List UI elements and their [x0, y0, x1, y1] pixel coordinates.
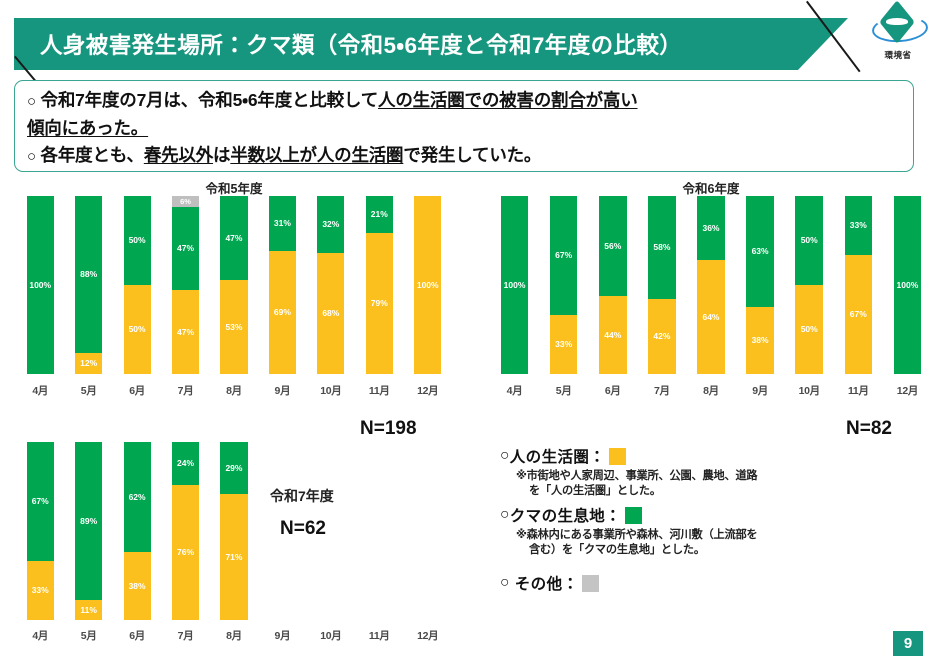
bar-segment-label: 33%	[32, 586, 49, 595]
bar-segment-label: 12%	[80, 359, 97, 368]
bar-segment-label: 71%	[225, 553, 242, 562]
bar-segment: 6%	[172, 196, 199, 207]
bar-segment-label: 31%	[274, 219, 291, 228]
chart-reiwa7: 67%33%89%11%62%38%24%76%29%71% 4月5月6月7月8…	[8, 438, 460, 648]
bar-stack: 21%79%	[366, 196, 393, 374]
bar-segment: 56%	[599, 196, 627, 296]
bar-column: 67%33%	[16, 442, 64, 620]
bar-column: 29%71%	[210, 442, 258, 620]
bar-stack: 67%33%	[550, 196, 578, 374]
bar-segment-label: 63%	[752, 247, 769, 256]
slide-header-band: 人身被害発生場所：クマ類（令和5・6年度と令和7年度の比較）	[14, 18, 848, 70]
bar-segment-label: 50%	[129, 325, 146, 334]
callout-bullet-1: ○	[27, 93, 36, 110]
x-axis-tick-label: 11月	[355, 383, 403, 398]
bar-stack: 67%33%	[27, 442, 54, 620]
legend-swatch-other	[582, 575, 599, 592]
chart-reiwa6-plot: 100%67%33%56%44%58%42%36%64%63%38%50%50%…	[490, 196, 932, 374]
callout-line-1-underlined: 人の生活圏での被害の割合が高い	[378, 90, 638, 110]
bar-segment-label: 36%	[702, 224, 719, 233]
bar-segment-label: 69%	[274, 308, 291, 317]
bar-column: 6%47%47%	[161, 196, 209, 374]
bar-stack: 6%47%47%	[172, 196, 199, 374]
bar-segment: 11%	[75, 600, 102, 620]
x-axis-tick-label: 4月	[490, 383, 539, 398]
bar-segment-label: 50%	[801, 236, 818, 245]
bar-stack: 100%	[414, 196, 441, 374]
bar-segment: 21%	[366, 196, 393, 233]
legend-item-habitat: ○ クマの生息地： ※森林内にある事業所や森林、河川敷（上流部を 含む）を「クマ…	[500, 504, 930, 557]
x-axis-tick-label: 7月	[161, 383, 209, 398]
bar-segment: 38%	[746, 307, 774, 374]
chart-reiwa7-title: 令和7年度	[270, 486, 334, 506]
bar-segment-label: 38%	[129, 582, 146, 591]
bar-segment-label: 62%	[129, 493, 146, 502]
legend-note-human-line2: を「人の生活圏」とした。	[516, 484, 930, 499]
x-axis-tick-label: 9月	[258, 628, 306, 643]
bar-segment-label: 100%	[417, 281, 439, 290]
legend-swatch-human	[609, 448, 626, 465]
bar-segment-label: 56%	[604, 242, 621, 251]
chart-reiwa7-x-axis: 4月5月6月7月8月9月10月11月12月	[16, 628, 452, 643]
legend-item-other: ○ その他：	[500, 572, 930, 594]
bar-segment-label: 33%	[850, 221, 867, 230]
bar-stack: 100%	[27, 196, 54, 374]
bar-segment-label: 89%	[80, 517, 97, 526]
legend-item-human-head: ○ 人の生活圏：	[500, 445, 930, 467]
bar-segment-label: 50%	[801, 325, 818, 334]
chart-reiwa5: 令和5年度 100%88%12%50%50%6%47%47%47%53%31%6…	[8, 178, 460, 410]
bar-segment-label: 88%	[80, 270, 97, 279]
bar-segment: 100%	[501, 196, 529, 374]
callout-line-3-plain-c: で発生していた。	[403, 145, 541, 165]
bar-segment-label: 76%	[177, 548, 194, 557]
bar-segment: 53%	[220, 280, 247, 374]
x-axis-tick-label: 10月	[785, 383, 834, 398]
bar-column: 31%69%	[258, 196, 306, 374]
bar-segment: 79%	[366, 233, 393, 374]
bar-segment-label: 33%	[555, 340, 572, 349]
chart-reiwa7-plot: 67%33%89%11%62%38%24%76%29%71%	[16, 442, 452, 620]
bar-segment-label: 11%	[80, 606, 97, 615]
bar-segment-label: 100%	[29, 281, 51, 290]
legend: ○ 人の生活圏： ※市街地や人家周辺、事業所、公園、農地、道路 を「人の生活圏」…	[500, 445, 930, 594]
bar-segment: 32%	[317, 196, 344, 253]
x-axis-tick-label: 11月	[355, 628, 403, 643]
chart-reiwa7-n-label: N=62	[280, 518, 326, 540]
bar-segment: 100%	[414, 196, 441, 374]
x-axis-tick-label: 12月	[883, 383, 932, 398]
x-axis-tick-label: 8月	[210, 383, 258, 398]
bar-stack: 63%38%	[746, 196, 774, 374]
bar-column: 58%42%	[637, 196, 686, 374]
callout-line-3-underlined-b: 半数以上が人の生活圏	[230, 145, 403, 165]
bar-column: 50%50%	[785, 196, 834, 374]
x-axis-tick-label: 8月	[686, 383, 735, 398]
chart-reiwa6-x-axis: 4月5月6月7月8月9月10月11月12月	[490, 383, 932, 398]
x-axis-tick-label: 10月	[307, 383, 355, 398]
legend-item-habitat-head: ○ クマの生息地：	[500, 504, 930, 526]
bar-segment-label: 100%	[897, 281, 919, 290]
bar-segment: 58%	[648, 196, 676, 299]
bar-segment-label: 47%	[177, 328, 194, 337]
bar-segment: 47%	[220, 196, 247, 280]
logo-wave-icon	[886, 18, 908, 25]
x-axis-tick-label: 9月	[258, 383, 306, 398]
bar-segment: 50%	[795, 285, 823, 374]
legend-note-habitat-line2: 含む）を「クマの生息地」とした。	[516, 543, 930, 558]
bar-segment-label: 32%	[322, 220, 339, 229]
bar-segment-label: 68%	[322, 309, 339, 318]
bar-stack: 29%71%	[220, 442, 247, 620]
bar-stack: 24%76%	[172, 442, 199, 620]
chart-reiwa5-x-axis: 4月5月6月7月8月9月10月11月12月	[16, 383, 452, 398]
bar-stack: 100%	[501, 196, 529, 374]
x-axis-tick-label: 11月	[834, 383, 883, 398]
page-title: 人身被害発生場所：クマ類（令和5・6年度と令和7年度の比較）	[40, 28, 682, 60]
callout-line-3-underlined-a: 春先以外	[144, 145, 213, 165]
bar-column: 50%50%	[113, 196, 161, 374]
legend-bullet-human: ○	[500, 447, 510, 465]
bar-segment: 67%	[550, 196, 578, 315]
x-axis-tick-label: 6月	[588, 383, 637, 398]
callout-line-2: 傾向にあった。	[27, 115, 903, 142]
bar-segment: 69%	[269, 251, 296, 374]
x-axis-tick-label: 6月	[113, 383, 161, 398]
x-axis-tick-label: 10月	[307, 628, 355, 643]
bar-segment-label: 67%	[850, 310, 867, 319]
x-axis-tick-label: 7月	[637, 383, 686, 398]
bar-column: 100%	[883, 196, 932, 374]
ministry-logo-label: 環境省	[856, 49, 940, 61]
bar-segment: 63%	[746, 196, 774, 307]
bar-segment: 100%	[894, 196, 922, 374]
bar-stack: 56%44%	[599, 196, 627, 374]
callout-bullet-2: ○	[27, 148, 36, 165]
bar-segment: 50%	[124, 285, 151, 374]
bar-segment: 89%	[75, 442, 102, 600]
ministry-logo: 環境省	[856, 6, 940, 70]
bar-segment-label: 29%	[225, 464, 242, 473]
bar-segment-label: 100%	[504, 281, 526, 290]
bar-column: 33%67%	[834, 196, 883, 374]
summary-callout-box: ○ 令和7年度の7月は、令和5・6年度と比較して人の生活圏での被害の割合が高い …	[14, 80, 914, 172]
bar-segment-label: 67%	[555, 251, 572, 260]
bar-segment: 36%	[697, 196, 725, 260]
bar-segment-label: 64%	[702, 313, 719, 322]
legend-note-human-line1: ※市街地や人家周辺、事業所、公園、農地、道路	[516, 470, 757, 482]
bar-stack: 50%50%	[795, 196, 823, 374]
legend-label-other: その他：	[515, 572, 579, 594]
page-number-badge: 9	[893, 631, 923, 656]
bar-column: 36%64%	[686, 196, 735, 374]
bar-stack: 33%67%	[845, 196, 873, 374]
bar-column: 100%	[490, 196, 539, 374]
x-axis-tick-label: 8月	[210, 628, 258, 643]
bar-stack: 88%12%	[75, 196, 102, 374]
bar-stack: 36%64%	[697, 196, 725, 374]
callout-line-3: ○ 各年度とも、春先以外は半数以上が人の生活圏で発生していた。	[27, 142, 903, 170]
bar-segment: 67%	[27, 442, 54, 561]
bar-segment-label: 58%	[653, 243, 670, 252]
x-axis-tick-label: 4月	[16, 628, 64, 643]
bar-column: 62%38%	[113, 442, 161, 620]
bar-segment-label: 24%	[177, 459, 194, 468]
bar-segment-label: 21%	[371, 210, 388, 219]
bar-stack: 31%69%	[269, 196, 296, 374]
chart-reiwa6: 令和6年度 100%67%33%56%44%58%42%36%64%63%38%…	[482, 178, 940, 410]
bar-segment: 64%	[697, 260, 725, 374]
x-axis-tick-label: 5月	[64, 628, 112, 643]
chart-reiwa5-n-label: N=198	[360, 418, 417, 440]
legend-note-habitat-line1: ※森林内にある事業所や森林、河川敷（上流部を	[516, 529, 757, 541]
bar-column: 100%	[404, 196, 452, 374]
bar-stack	[414, 442, 441, 620]
bar-segment: 24%	[172, 442, 199, 485]
bar-column: 47%53%	[210, 196, 258, 374]
bar-column	[355, 442, 403, 620]
bar-segment: 50%	[795, 196, 823, 285]
bar-column: 21%79%	[355, 196, 403, 374]
callout-line-1: ○ 令和7年度の7月は、令和5・6年度と比較して人の生活圏での被害の割合が高い	[27, 87, 903, 115]
bar-segment-label: 53%	[225, 323, 242, 332]
chart-reiwa5-plot: 100%88%12%50%50%6%47%47%47%53%31%69%32%6…	[16, 196, 452, 374]
bar-segment-label: 47%	[177, 244, 194, 253]
bar-segment-label: 42%	[653, 332, 670, 341]
legend-item-other-head: ○ その他：	[500, 572, 930, 594]
legend-label-human: 人の生活圏：	[510, 445, 605, 467]
bar-segment: 42%	[648, 299, 676, 374]
bar-column: 24%76%	[161, 442, 209, 620]
bar-stack: 58%42%	[648, 196, 676, 374]
bar-segment-label: 38%	[752, 336, 769, 345]
x-axis-tick-label: 9月	[736, 383, 785, 398]
bar-column: 88%12%	[64, 196, 112, 374]
bar-segment: 47%	[172, 290, 199, 374]
bar-segment-label: 79%	[371, 299, 388, 308]
callout-line-3-plain-b: は	[213, 145, 230, 165]
bar-stack: 89%11%	[75, 442, 102, 620]
bar-segment-label: 50%	[129, 236, 146, 245]
bar-stack: 62%38%	[124, 442, 151, 620]
bar-segment: 100%	[27, 196, 54, 374]
x-axis-tick-label: 5月	[539, 383, 588, 398]
bar-column: 56%44%	[588, 196, 637, 374]
x-axis-tick-label: 6月	[113, 628, 161, 643]
x-axis-tick-label: 4月	[16, 383, 64, 398]
bar-segment: 50%	[124, 196, 151, 285]
bar-segment: 62%	[124, 442, 151, 552]
bar-column: 32%68%	[307, 196, 355, 374]
bar-segment: 29%	[220, 442, 247, 494]
bar-column: 63%38%	[736, 196, 785, 374]
bar-segment-label: 47%	[225, 234, 242, 243]
legend-note-human: ※市街地や人家周辺、事業所、公園、農地、道路 を「人の生活圏」とした。	[516, 469, 930, 498]
ministry-logo-mark	[870, 6, 926, 48]
bar-segment: 44%	[599, 296, 627, 374]
bar-column	[404, 442, 452, 620]
x-axis-tick-label: 12月	[404, 383, 452, 398]
bar-stack: 50%50%	[124, 196, 151, 374]
bar-segment: 33%	[550, 315, 578, 374]
legend-spacer	[500, 563, 930, 572]
x-axis-tick-label: 7月	[161, 628, 209, 643]
bar-segment: 38%	[124, 552, 151, 620]
legend-bullet-other: ○	[500, 574, 510, 592]
bar-segment: 71%	[220, 494, 247, 620]
bar-segment: 68%	[317, 253, 344, 374]
bar-stack: 47%53%	[220, 196, 247, 374]
legend-item-human: ○ 人の生活圏： ※市街地や人家周辺、事業所、公園、農地、道路 を「人の生活圏」…	[500, 445, 930, 498]
legend-note-habitat: ※森林内にある事業所や森林、河川敷（上流部を 含む）を「クマの生息地」とした。	[516, 528, 930, 557]
bar-segment: 33%	[845, 196, 873, 255]
bar-column: 89%11%	[64, 442, 112, 620]
chart-reiwa6-title: 令和6年度	[482, 178, 940, 197]
bar-segment: 88%	[75, 196, 102, 353]
bar-segment-label: 67%	[32, 497, 49, 506]
legend-label-habitat: クマの生息地：	[510, 504, 621, 526]
bar-stack: 100%	[894, 196, 922, 374]
bar-column: 100%	[16, 196, 64, 374]
bar-column: 67%33%	[539, 196, 588, 374]
chart-reiwa6-n-label: N=82	[846, 418, 892, 440]
bar-segment: 47%	[172, 207, 199, 291]
callout-line-1-plain: 令和7年度の7月は、令和5・6年度と比較して	[41, 90, 378, 110]
chart-reiwa5-title: 令和5年度	[8, 178, 460, 197]
bar-segment-label: 6%	[180, 198, 191, 206]
bar-stack: 32%68%	[317, 196, 344, 374]
bar-segment: 67%	[845, 255, 873, 374]
legend-bullet-habitat: ○	[500, 506, 510, 524]
bar-segment: 31%	[269, 196, 296, 251]
callout-line-2-underlined: 傾向にあった。	[27, 118, 148, 138]
callout-line-3-plain-a: 各年度とも、	[41, 145, 144, 165]
bar-stack	[366, 442, 393, 620]
x-axis-tick-label: 5月	[64, 383, 112, 398]
bar-segment: 12%	[75, 353, 102, 374]
bar-segment: 33%	[27, 561, 54, 620]
bar-segment-label: 44%	[604, 331, 621, 340]
legend-swatch-habitat	[625, 507, 642, 524]
x-axis-tick-label: 12月	[404, 628, 452, 643]
bar-segment: 76%	[172, 485, 199, 620]
